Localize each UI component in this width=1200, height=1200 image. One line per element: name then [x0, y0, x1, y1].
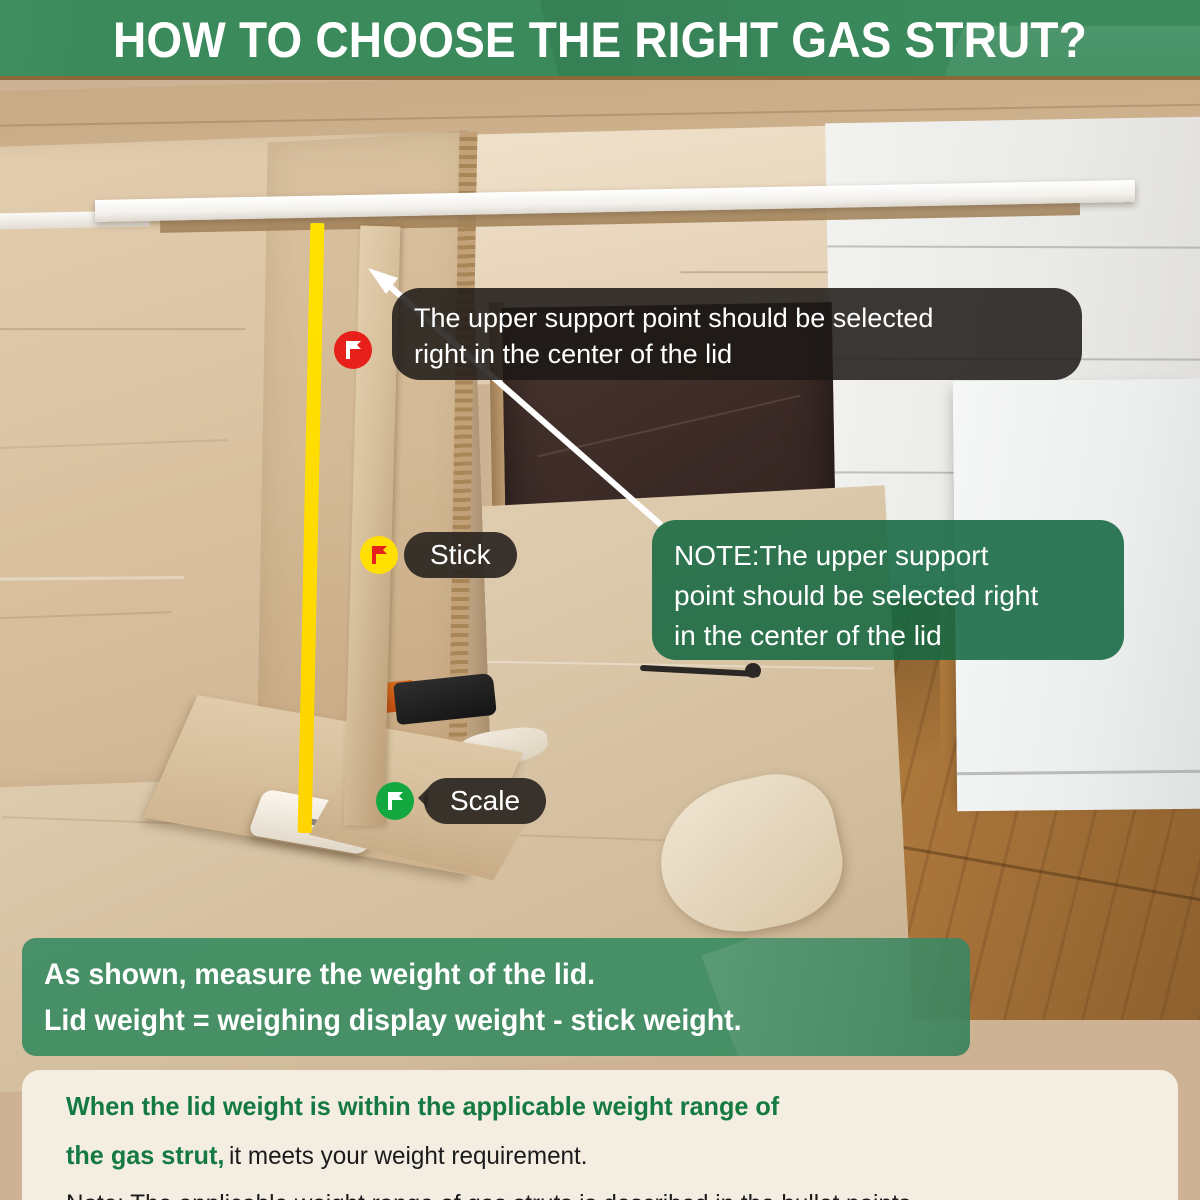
bottom-line-2-green: the gas strut, [66, 1133, 224, 1177]
wood-grain-line [0, 576, 184, 581]
upper-callout-line-2: right in the center of the lid [414, 336, 1062, 372]
note-callout: NOTE:The upper support point should be s… [652, 520, 1124, 660]
header-banner: HOW TO CHOOSE THE RIGHT GAS STRUT? [0, 0, 1200, 80]
flag-icon-upper-support[interactable] [334, 331, 372, 369]
stick-label-pill: Stick [404, 532, 517, 578]
cavity-fold [537, 395, 801, 458]
bottom-line-2-black: it meets your weight requirement. [229, 1134, 588, 1178]
upper-callout-line-1: The upper support point should be select… [414, 300, 1062, 336]
bottom-line-3: Note: The applicable weight range of gas… [66, 1182, 1178, 1200]
flag-icon [368, 544, 390, 566]
wood-grain-line [0, 328, 245, 330]
wood-grain-line [0, 611, 171, 621]
baseboard-line [957, 770, 1200, 776]
flag-icon [384, 790, 406, 812]
bottom-line-1-green: When the lid weight is within the applic… [66, 1084, 779, 1128]
flag-icon-scale[interactable] [376, 782, 414, 820]
page-title: HOW TO CHOOSE THE RIGHT GAS STRUT? [48, 11, 1152, 69]
bottom-line-2: the gas strut, it meets your weight requ… [66, 1133, 1178, 1182]
infographic-root: HOW TO CHOOSE THE RIGHT GAS STRUT? [0, 0, 1200, 1200]
upper-support-callout: The upper support point should be select… [392, 288, 1082, 380]
wood-grain-line [0, 439, 227, 451]
note-line-3: in the center of the lid [674, 616, 1102, 656]
scale-label-pill: Scale [424, 778, 546, 824]
banner-line-2: Lid weight = weighing display weight - s… [44, 998, 924, 1044]
note-line-2: point should be selected right [674, 576, 1102, 616]
weight-range-panel: When the lid weight is within the applic… [22, 1070, 1178, 1200]
banner-line-1: As shown, measure the weight of the lid. [44, 952, 924, 998]
measure-instruction-banner: As shown, measure the weight of the lid.… [22, 938, 970, 1056]
flag-icon [342, 339, 364, 361]
note-line-1: NOTE:The upper support [674, 536, 1102, 576]
bottom-line-1: When the lid weight is within the applic… [66, 1084, 1178, 1133]
floor-pipe-knob [745, 663, 761, 678]
workshop-photo: The upper support point should be select… [0, 80, 1200, 1200]
flag-icon-stick[interactable] [360, 536, 398, 574]
shiplap-seam [827, 245, 1200, 248]
bottom-line-3-black: Note: The applicable weight range of gas… [66, 1182, 911, 1200]
